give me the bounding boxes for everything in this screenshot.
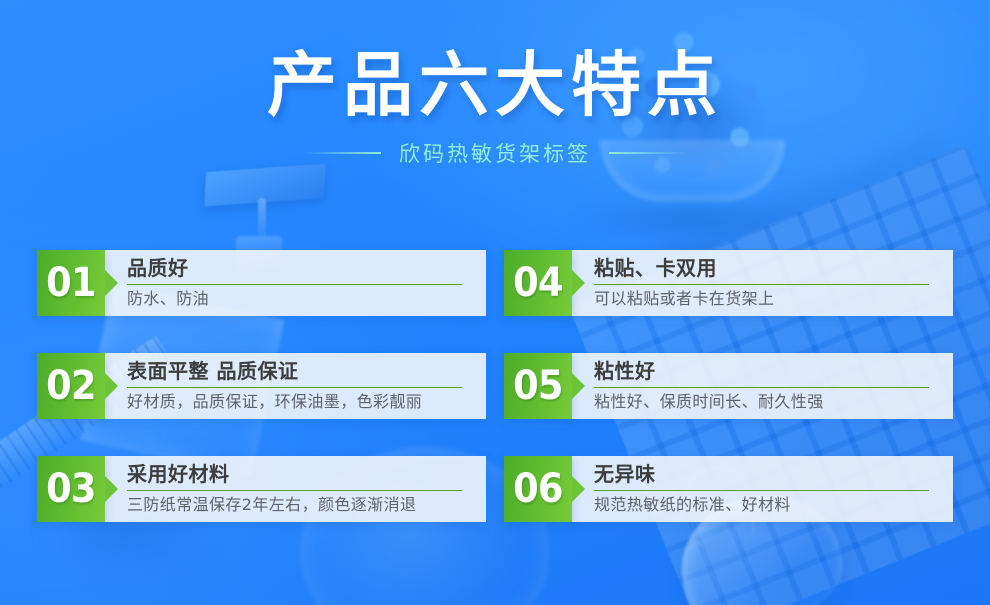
- feature-grid: 01 品质好 防水、防油 04 粘贴、卡双用 可以粘贴或者卡在货架上 02 表面…: [37, 250, 953, 522]
- feature-badge-02: 02: [37, 353, 105, 419]
- feature-number: 06: [513, 469, 562, 509]
- badge-arrow-icon: [572, 373, 585, 399]
- feature-description: 粘性好、保质时间长、耐久性强: [594, 392, 953, 412]
- feature-card-01: 品质好 防水、防油: [105, 250, 486, 316]
- feature-title: 采用好材料: [127, 463, 486, 487]
- feature-badge-01: 01: [37, 250, 105, 316]
- feature-item-04[interactable]: 04 粘贴、卡双用 可以粘贴或者卡在货架上: [504, 250, 953, 316]
- page-header: 产品六大特点 欣码热敏货架标签: [0, 0, 990, 200]
- feature-badge-03: 03: [37, 456, 105, 522]
- feature-badge-05: 05: [504, 353, 572, 419]
- page-title: 产品六大特点: [0, 48, 990, 124]
- badge-arrow-icon: [572, 476, 585, 502]
- subtitle-divider-right: [609, 152, 687, 154]
- feature-card-06: 无异味 规范热敏纸的标准、好材料: [572, 456, 953, 522]
- feature-divider: [594, 284, 929, 285]
- subtitle-divider-left: [303, 152, 381, 154]
- feature-title: 表面平整 品质保证: [127, 360, 486, 384]
- feature-description: 规范热敏纸的标准、好材料: [594, 495, 953, 515]
- badge-arrow-icon: [105, 373, 118, 399]
- shelf-label-hook: [258, 198, 266, 242]
- badge-arrow-icon: [572, 270, 585, 296]
- flower-bowl-shadow: [570, 196, 820, 242]
- feature-item-01[interactable]: 01 品质好 防水、防油: [37, 250, 486, 316]
- feature-title: 无异味: [594, 463, 953, 487]
- feature-description: 好材质，品质保证，环保油墨，色彩靓丽: [127, 392, 486, 412]
- feature-card-04: 粘贴、卡双用 可以粘贴或者卡在货架上: [572, 250, 953, 316]
- feature-card-05: 粘性好 粘性好、保质时间长、耐久性强: [572, 353, 953, 419]
- feature-badge-04: 04: [504, 250, 572, 316]
- feature-divider: [594, 387, 929, 388]
- feature-badge-06: 06: [504, 456, 572, 522]
- feature-title: 粘性好: [594, 360, 953, 384]
- feature-title: 粘贴、卡双用: [594, 257, 953, 281]
- badge-arrow-icon: [105, 270, 118, 296]
- feature-description: 防水、防油: [127, 289, 486, 309]
- feature-description: 可以粘贴或者卡在货架上: [594, 289, 953, 309]
- feature-card-03: 采用好材料 三防纸常温保存2年左右，颜色逐渐消退: [105, 456, 486, 522]
- feature-number: 05: [513, 366, 562, 406]
- page-subtitle: 欣码热敏货架标签: [399, 138, 591, 168]
- feature-divider: [127, 284, 462, 285]
- feature-card-02: 表面平整 品质保证 好材质，品质保证，环保油墨，色彩靓丽: [105, 353, 486, 419]
- feature-divider: [127, 387, 462, 388]
- feature-number: 03: [46, 469, 95, 509]
- feature-item-05[interactable]: 05 粘性好 粘性好、保质时间长、耐久性强: [504, 353, 953, 419]
- subtitle-row: 欣码热敏货架标签: [0, 138, 990, 168]
- feature-title: 品质好: [127, 257, 486, 281]
- feature-number: 02: [46, 366, 95, 406]
- badge-arrow-icon: [105, 476, 118, 502]
- feature-divider: [127, 490, 462, 491]
- feature-item-06[interactable]: 06 无异味 规范热敏纸的标准、好材料: [504, 456, 953, 522]
- feature-item-02[interactable]: 02 表面平整 品质保证 好材质，品质保证，环保油墨，色彩靓丽: [37, 353, 486, 419]
- feature-number: 01: [46, 263, 95, 303]
- feature-divider: [594, 490, 929, 491]
- feature-description: 三防纸常温保存2年左右，颜色逐渐消退: [127, 495, 486, 515]
- feature-number: 04: [513, 263, 562, 303]
- feature-item-03[interactable]: 03 采用好材料 三防纸常温保存2年左右，颜色逐渐消退: [37, 456, 486, 522]
